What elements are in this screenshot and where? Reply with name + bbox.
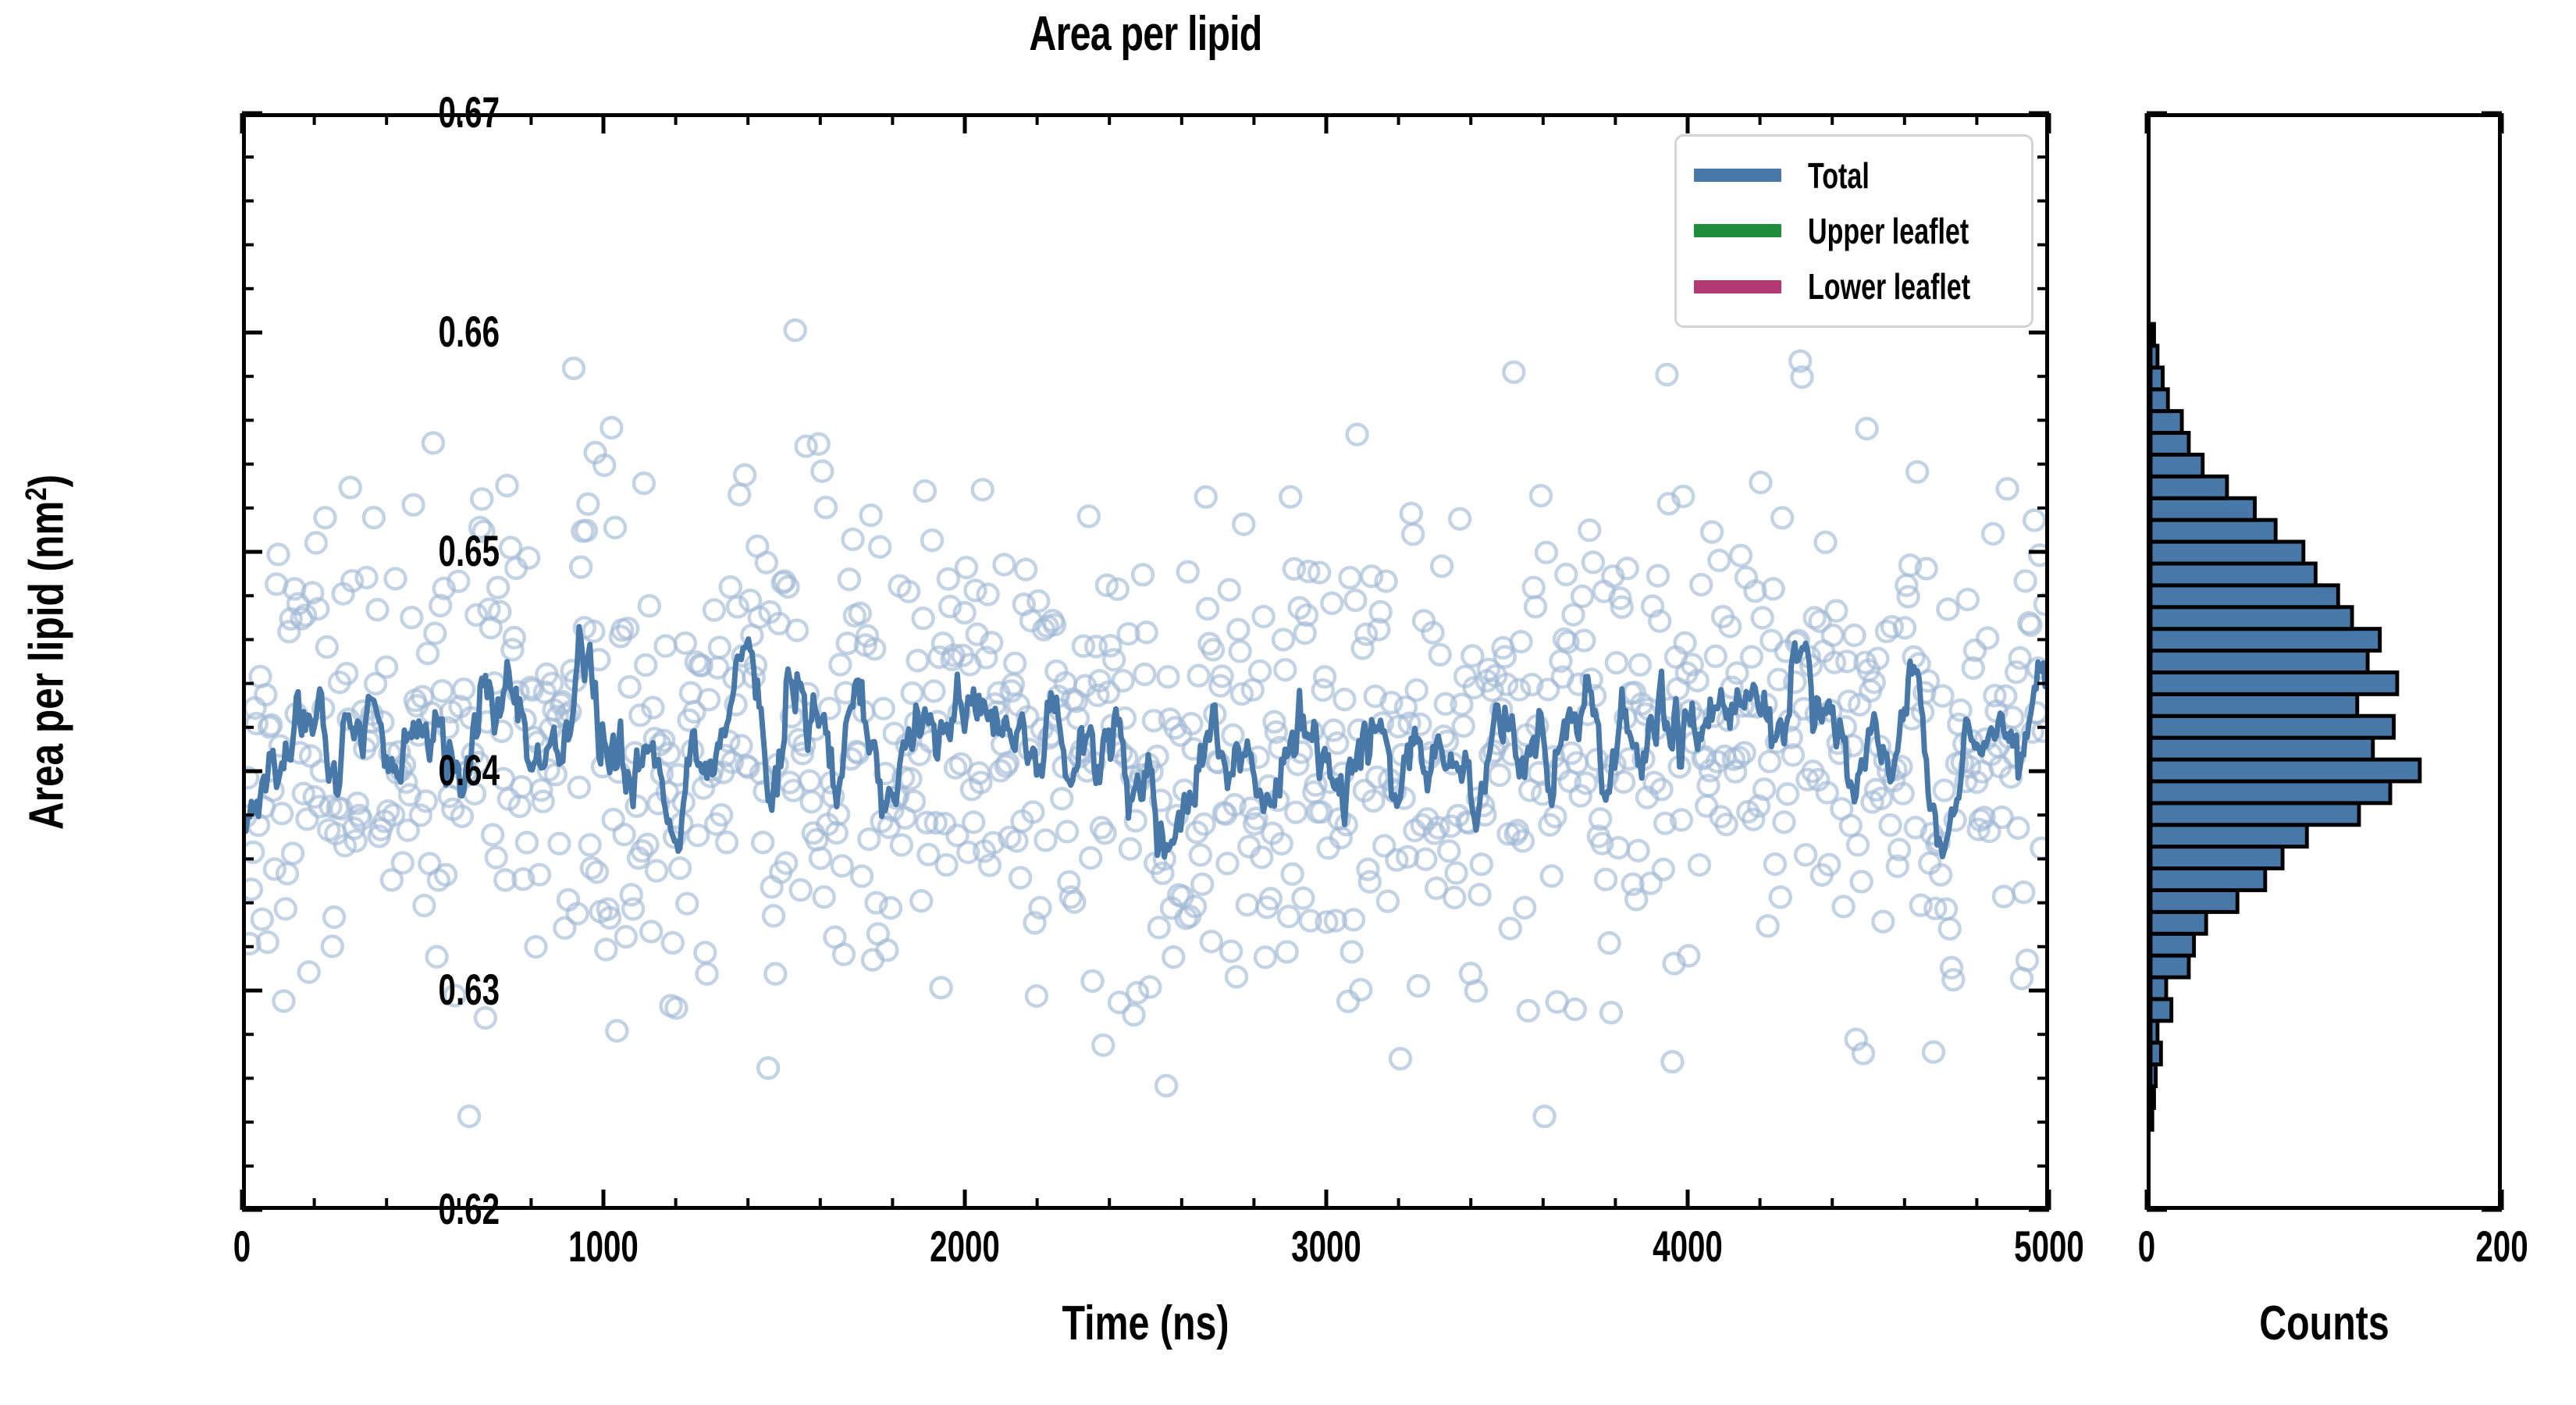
legend-swatch-lower-leaflet bbox=[1694, 280, 1781, 293]
histogram-bar bbox=[2151, 759, 2420, 781]
figure-canvas: Area per lipid 0.620.630.640.650.660.67 … bbox=[0, 0, 2576, 1405]
histogram-bar bbox=[2151, 912, 2206, 934]
histogram-bar bbox=[2151, 1065, 2156, 1087]
histogram-bar bbox=[2151, 1108, 2152, 1129]
histogram-plot-area bbox=[2151, 117, 2498, 1206]
x-tick-label: 3000 bbox=[1242, 1221, 1411, 1272]
y-tick-label: 0.67 bbox=[439, 87, 500, 137]
y-tick-label: 0.66 bbox=[439, 306, 500, 357]
histogram-bar bbox=[2151, 564, 2315, 585]
histogram-bar bbox=[2151, 346, 2158, 368]
histogram-bar bbox=[2151, 520, 2275, 542]
legend-box: Total Upper leaflet Lower leaflet bbox=[1674, 134, 2033, 328]
histogram-bar bbox=[2151, 781, 2390, 803]
x-tick-label: 0 bbox=[158, 1221, 326, 1272]
histogram-bar bbox=[2151, 542, 2304, 564]
histogram-bar bbox=[2151, 368, 2163, 389]
histogram-bar bbox=[2151, 672, 2397, 694]
chart-title: Area per lipid bbox=[441, 6, 1851, 62]
legend-item-total[interactable]: Total bbox=[1694, 153, 2017, 198]
histogram-x-axis-title: Counts bbox=[2186, 1296, 2463, 1351]
histogram-bar bbox=[2151, 498, 2255, 520]
histogram-bar bbox=[2151, 476, 2227, 498]
histogram-bar bbox=[2151, 999, 2172, 1021]
legend-label-total: Total bbox=[1808, 155, 1870, 197]
histogram-bar bbox=[2151, 324, 2154, 346]
histogram-bar bbox=[2151, 977, 2166, 999]
histogram-bar bbox=[2151, 694, 2357, 716]
histogram-bar bbox=[2151, 433, 2189, 455]
histogram-bar bbox=[2151, 1087, 2154, 1108]
y-tick-label: 0.62 bbox=[439, 1183, 500, 1234]
histogram-bar bbox=[2151, 454, 2203, 476]
histogram-bar-group bbox=[2151, 324, 2420, 1129]
histogram-bar bbox=[2151, 1021, 2158, 1043]
histogram-bar bbox=[2151, 389, 2168, 411]
histogram-bar bbox=[2151, 803, 2359, 825]
y-axis-title-exponent: 2 bbox=[20, 487, 53, 500]
x-tick-label: 1000 bbox=[519, 1221, 688, 1272]
legend-swatch-total bbox=[1694, 169, 1781, 182]
histogram-bar bbox=[2151, 585, 2338, 607]
y-axis-title-close: ) bbox=[20, 475, 74, 488]
x-tick-label: 4000 bbox=[1603, 1221, 1772, 1272]
scatter-marker-group bbox=[246, 320, 2045, 1126]
histogram-bar bbox=[2151, 869, 2265, 891]
legend-label-lower-leaflet: Lower leaflet bbox=[1808, 265, 1970, 308]
y-tick-label: 0.64 bbox=[439, 745, 500, 795]
histogram-bar bbox=[2151, 738, 2373, 759]
histogram-x-tick-label: 0 bbox=[2062, 1221, 2231, 1272]
legend-label-upper-leaflet: Upper leaflet bbox=[1808, 210, 1969, 252]
y-axis-title: Area per lipid (nm2) bbox=[20, 215, 75, 1090]
histogram-axes bbox=[2147, 113, 2502, 1210]
legend-item-lower-leaflet[interactable]: Lower leaflet bbox=[1694, 264, 2017, 309]
histogram-bar bbox=[2151, 411, 2182, 433]
histogram-bar bbox=[2151, 716, 2394, 738]
x-tick-label: 2000 bbox=[881, 1221, 1049, 1272]
histogram-bar bbox=[2151, 847, 2282, 869]
histogram-bar bbox=[2151, 934, 2194, 955]
histogram-x-tick-label: 200 bbox=[2418, 1221, 2576, 1272]
y-axis-title-base: Area per lipid (nm bbox=[20, 500, 74, 830]
histogram-bar bbox=[2151, 1043, 2161, 1065]
histogram-bar bbox=[2151, 651, 2368, 673]
histogram-bar bbox=[2151, 607, 2352, 629]
histogram-bar bbox=[2151, 629, 2380, 651]
legend-item-upper-leaflet[interactable]: Upper leaflet bbox=[1694, 208, 2017, 254]
histogram-bar bbox=[2151, 890, 2237, 912]
y-tick-label: 0.65 bbox=[439, 525, 500, 576]
y-tick-label: 0.63 bbox=[439, 964, 500, 1015]
x-axis-title: Time (ns) bbox=[441, 1296, 1851, 1351]
legend-swatch-upper-leaflet bbox=[1694, 224, 1781, 237]
histogram-bar bbox=[2151, 955, 2189, 977]
histogram-bar bbox=[2151, 825, 2307, 847]
